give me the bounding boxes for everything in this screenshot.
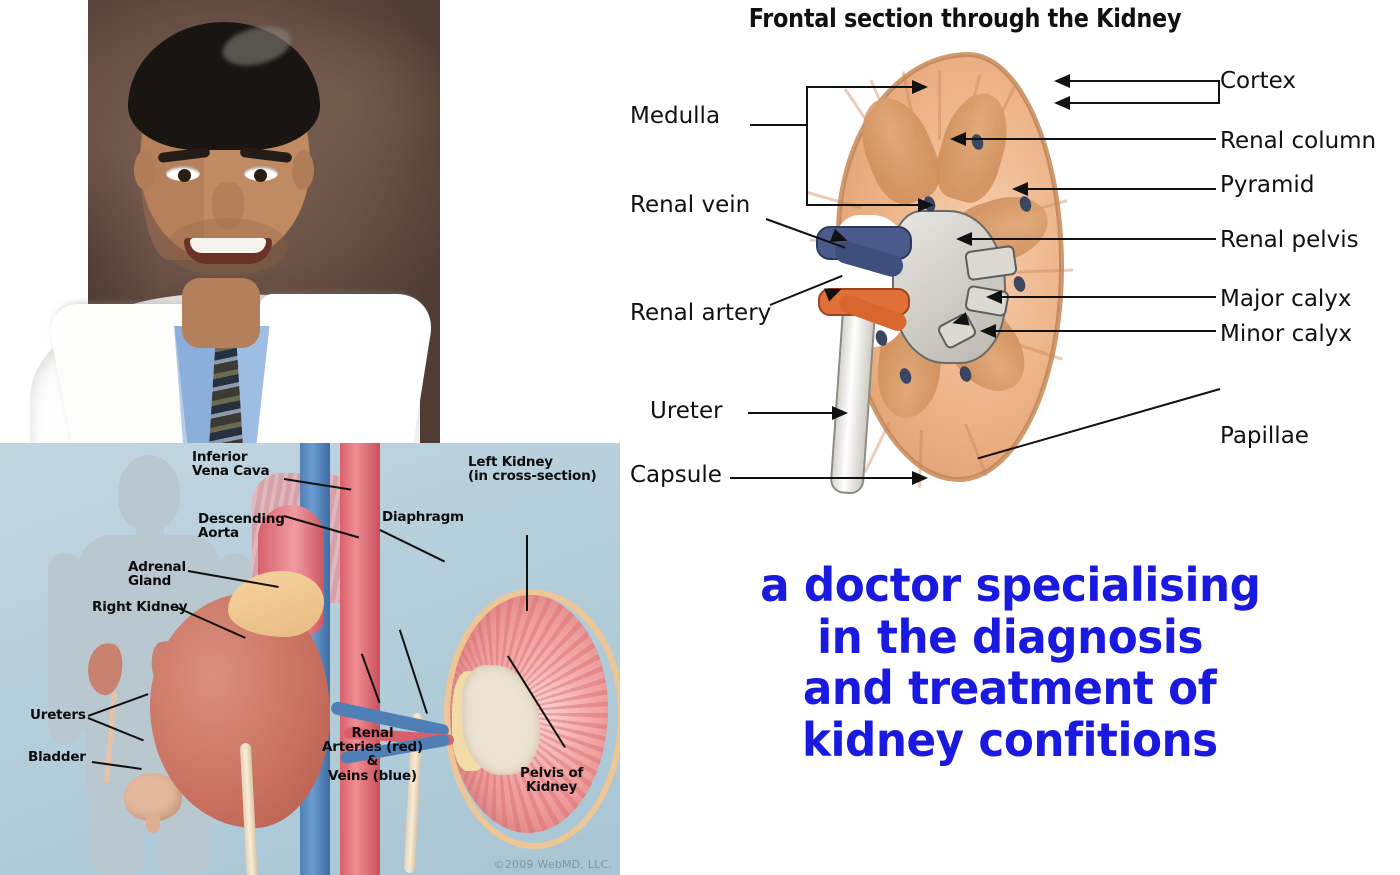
leader-ureter bbox=[748, 412, 836, 414]
webmd-copyright-credit: ©2009 WebMD, LLC. bbox=[494, 858, 612, 871]
cortical-ray bbox=[938, 70, 941, 140]
leader-renal-column bbox=[1066, 138, 1216, 140]
label-ureters: Ureters bbox=[30, 708, 86, 722]
label-capsule: Capsule bbox=[630, 462, 722, 488]
label-diaphragm: Diaphragm bbox=[382, 510, 464, 524]
leader-minor-calyx bbox=[996, 330, 1216, 332]
lab-coat-right-lapel bbox=[238, 294, 437, 444]
label-renal-artery: Renal artery bbox=[630, 300, 771, 326]
teeth bbox=[190, 238, 266, 253]
capsule-arrow bbox=[912, 471, 928, 485]
label-adrenal-gland: Adrenal Gland bbox=[128, 560, 186, 588]
major-calyx-arrow bbox=[986, 290, 1002, 304]
leader-line-diaphragm bbox=[380, 529, 445, 562]
medulla-stem bbox=[750, 124, 806, 126]
label-medulla: Medulla bbox=[630, 103, 720, 129]
cortex-arrow-upper bbox=[1054, 74, 1070, 88]
caption-line-1: a doctor specialising bbox=[760, 560, 1260, 612]
descending-aorta-vessel bbox=[340, 443, 380, 875]
neck bbox=[182, 278, 260, 348]
medulla-arrow-upper bbox=[912, 80, 928, 94]
ureter-arrow bbox=[832, 406, 848, 420]
definition-caption: a doctor specialising in the diagnosis a… bbox=[640, 560, 1380, 860]
cortex-bracket-top bbox=[1070, 80, 1220, 82]
caption-line-3: and treatment of bbox=[803, 663, 1216, 715]
minor-calyx-arrow bbox=[980, 324, 996, 338]
label-renal-arteries-veins: Renal Arteries (red) & Veins (blue) bbox=[322, 726, 423, 783]
diagram-title: Frontal section through the Kidney bbox=[668, 4, 1261, 34]
urethra bbox=[146, 815, 160, 833]
label-right-kidney: Right Kidney bbox=[92, 600, 187, 614]
leader-capsule bbox=[730, 477, 916, 479]
label-left-kidney: Left Kidney (in cross-section) bbox=[468, 455, 596, 483]
label-descending-aorta: Descending Aorta bbox=[198, 512, 285, 540]
label-minor-calyx: Minor calyx bbox=[1220, 321, 1352, 347]
label-papillae: Papillae bbox=[1220, 423, 1309, 449]
pyramid-arrow bbox=[1012, 182, 1028, 196]
label-renal-vein: Renal vein bbox=[630, 192, 750, 218]
medulla-arrow-lower bbox=[918, 198, 934, 212]
leader-pyramid bbox=[1028, 188, 1216, 190]
label-inferior-vena-cava: Inferior Vena Cava bbox=[192, 450, 269, 478]
right-ear bbox=[292, 150, 314, 190]
leader-line-renal-vessels-b bbox=[399, 630, 428, 714]
cortex-bracket-bottom bbox=[1070, 102, 1220, 104]
label-cortex: Cortex bbox=[1220, 68, 1296, 94]
label-renal-pelvis: Renal pelvis bbox=[1220, 227, 1359, 253]
right-pupil bbox=[254, 169, 267, 182]
photo-right-margin bbox=[440, 0, 443, 444]
left-ear bbox=[134, 150, 156, 190]
renal-column-arrow bbox=[950, 132, 966, 146]
medulla-bracket-vertical bbox=[806, 86, 808, 206]
kidney-frontal-section-diagram: Frontal section through the Kidney Corte… bbox=[620, 0, 1400, 540]
leader-renal-column-inner bbox=[966, 138, 1070, 140]
label-pyramid: Pyramid bbox=[1220, 172, 1314, 198]
caption-line-4: kidney confitions bbox=[802, 715, 1218, 767]
label-ureter: Ureter bbox=[650, 398, 723, 424]
medulla-branch-lower bbox=[806, 204, 920, 206]
cortex-arrow-lower bbox=[1054, 96, 1070, 110]
silhouette-head bbox=[118, 455, 180, 531]
leader-line-left-kidney bbox=[526, 535, 528, 611]
renal-pelvis-arrow bbox=[956, 232, 972, 246]
leader-major-calyx bbox=[1002, 296, 1216, 298]
medulla-branch-upper bbox=[806, 86, 914, 88]
leader-renal-pelvis bbox=[972, 238, 1216, 240]
caption-line-2: in the diagnosis bbox=[817, 612, 1203, 664]
label-renal-column: Renal column bbox=[1220, 128, 1376, 154]
label-major-calyx: Major calyx bbox=[1220, 286, 1352, 312]
left-pupil bbox=[178, 169, 191, 182]
label-pelvis-of-kidney: Pelvis of Kidney bbox=[520, 766, 583, 794]
cortex-bracket-right bbox=[1218, 80, 1220, 104]
doctor-portrait-photo bbox=[0, 0, 443, 444]
webmd-urinary-system-diagram: Inferior Vena Cava Descending Aorta Adre… bbox=[0, 443, 620, 875]
label-bladder: Bladder bbox=[28, 750, 86, 764]
